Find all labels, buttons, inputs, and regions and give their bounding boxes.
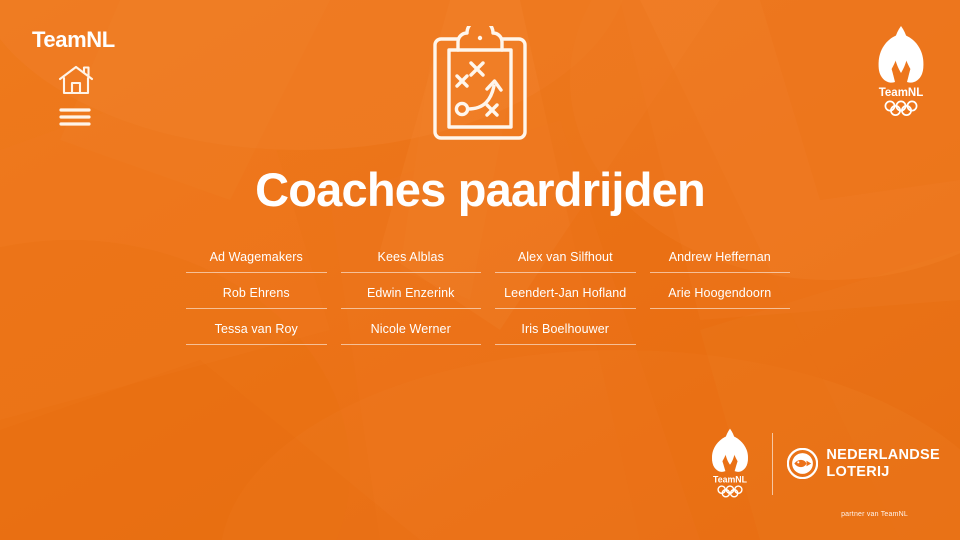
coach-name[interactable]: Nicole Werner — [341, 320, 482, 345]
coach-name[interactable]: Leendert-Jan Hofland — [495, 284, 636, 309]
coach-name[interactable]: Arie Hoogendoorn — [650, 284, 791, 309]
coach-name[interactable]: Andrew Heffernan — [650, 248, 791, 273]
coach-name[interactable]: Alex van Silfhout — [495, 248, 636, 273]
coach-names-grid: Ad Wagemakers Kees Alblas Alex van Silfh… — [186, 248, 790, 345]
clipboard-tactics-icon — [428, 26, 532, 144]
nederlandse-loterij-logo: NEDERLANDSE LOTERIJ — [787, 448, 940, 479]
home-icon-glyph — [58, 64, 94, 96]
coach-name[interactable]: Tessa van Roy — [186, 320, 327, 345]
partner-tagline: partner van TeamNL — [702, 511, 940, 518]
home-icon[interactable] — [58, 64, 94, 101]
nav-icon-group — [58, 64, 94, 132]
hamburger-menu-icon[interactable] — [58, 101, 94, 132]
brand-wordmark-topleft: TeamNL — [32, 29, 115, 51]
sponsor-line-2: LOTERIJ — [826, 465, 940, 480]
footer-partner-lockup: TeamNL — [702, 424, 940, 518]
teamnl-emblem-footer: TeamNL — [702, 424, 758, 503]
coach-name[interactable]: Iris Boelhouwer — [495, 320, 636, 345]
teamnl-emblem-topright: TeamNL — [865, 20, 937, 116]
hamburger-menu-icon-glyph — [59, 107, 91, 127]
coach-name[interactable]: Rob Ehrens — [186, 284, 327, 309]
teamnl-emblem-wordmark: TeamNL — [879, 87, 924, 99]
nederlandse-loterij-wordmark: NEDERLANDSE LOTERIJ — [826, 448, 940, 479]
lockup-divider — [772, 433, 773, 495]
clipboard-tactics-icon-glyph — [428, 26, 532, 144]
teamnl-tulip-emblem-footer-icon: TeamNL — [702, 424, 758, 498]
page-title: Coaches paardrijden — [0, 164, 960, 216]
coach-name[interactable]: Edwin Enzerink — [341, 284, 482, 309]
nederlandse-loterij-emblem-icon — [787, 448, 818, 479]
teamnl-footer-wordmark: TeamNL — [713, 474, 748, 484]
sponsor-line-1: NEDERLANDSE — [826, 448, 940, 463]
teamnl-tulip-emblem-icon: TeamNL — [865, 20, 937, 116]
coach-name[interactable]: Ad Wagemakers — [186, 248, 327, 273]
coach-name[interactable]: Kees Alblas — [341, 248, 482, 273]
